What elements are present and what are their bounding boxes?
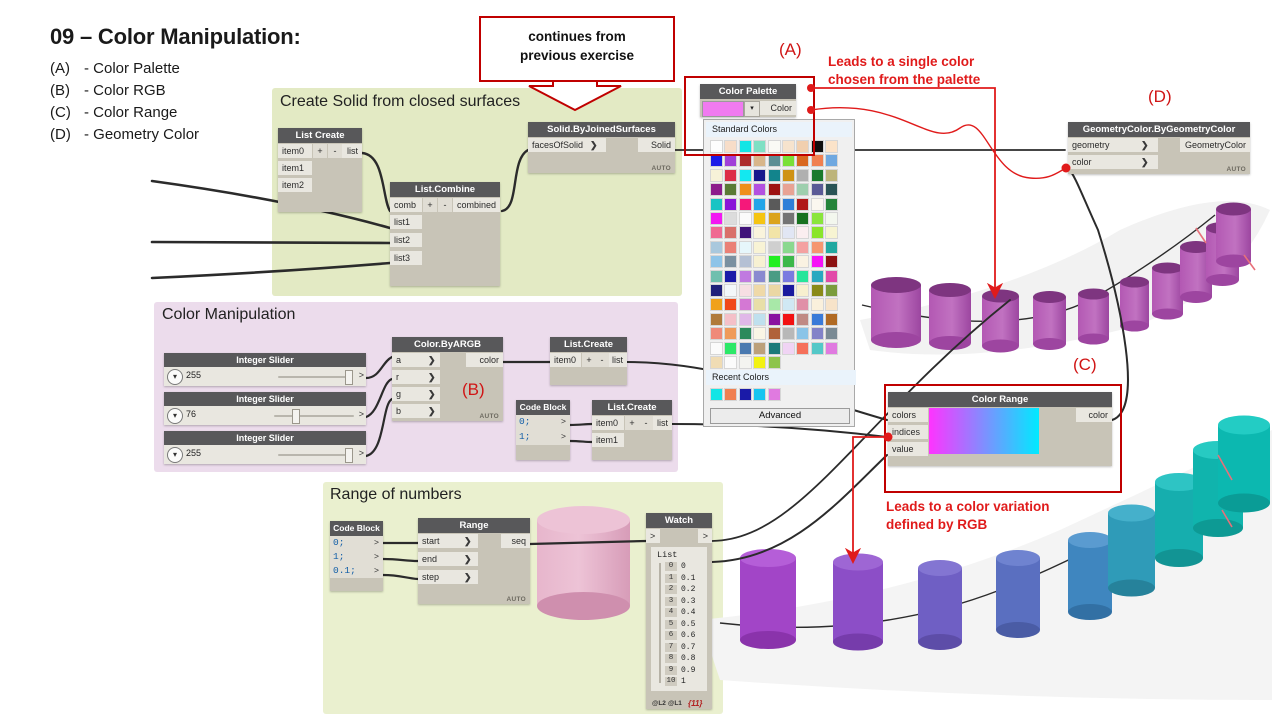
slider-title: Integer Slider xyxy=(164,353,366,367)
color-swatch[interactable] xyxy=(811,154,824,167)
list-item: (C)- Color Range xyxy=(50,104,199,121)
node-range[interactable]: Range start ❯ end ❯ step ❯ seq AUTO xyxy=(418,518,530,604)
color-swatch[interactable] xyxy=(739,270,752,283)
color-swatch[interactable] xyxy=(796,183,809,196)
port-color-out[interactable]: color xyxy=(466,353,503,367)
annotation-c-text: Leads to a color variation defined by RG… xyxy=(886,498,1050,534)
color-swatch[interactable] xyxy=(811,212,824,225)
integer-slider-2[interactable]: Integer Slider ▾ 76 > xyxy=(164,392,366,425)
color-swatch[interactable] xyxy=(739,356,752,369)
color-swatch[interactable] xyxy=(825,183,838,196)
label-a: (A) xyxy=(779,40,802,60)
node-title: Code Block xyxy=(516,400,570,415)
color-swatch[interactable] xyxy=(753,342,766,355)
highlight-box-c xyxy=(884,384,1122,493)
slider-row[interactable]: ▾ 255 > xyxy=(164,445,366,464)
chevron-down-icon[interactable]: ▾ xyxy=(167,369,183,385)
color-swatch[interactable] xyxy=(753,327,766,340)
watch-row-index: 5 xyxy=(665,620,677,629)
color-swatch[interactable] xyxy=(768,212,781,225)
watch-result-list[interactable]: List 0010.120.230.340.450.560.670.780.89… xyxy=(651,547,707,691)
color-swatch[interactable] xyxy=(796,198,809,211)
chevron-down-icon[interactable]: ▾ xyxy=(167,408,183,424)
node-list-create-1[interactable]: List Create item0 + - list item1 item2 xyxy=(278,128,362,212)
node-code-block-range[interactable]: Code Block 0; > 1; > 0.1; > xyxy=(330,521,383,591)
color-swatch[interactable] xyxy=(739,169,752,182)
chevron-right-icon: ❯ xyxy=(464,570,472,584)
recent-color-swatch[interactable] xyxy=(753,388,766,401)
node-title: Range xyxy=(418,518,530,533)
color-swatch[interactable] xyxy=(796,313,809,326)
color-swatch[interactable] xyxy=(811,241,824,254)
color-swatch[interactable] xyxy=(768,154,781,167)
port-list2[interactable]: list2 xyxy=(390,233,422,247)
port-item0[interactable]: item0 xyxy=(592,416,624,430)
color-swatch[interactable] xyxy=(724,313,737,326)
color-swatch[interactable] xyxy=(782,212,795,225)
color-swatch[interactable] xyxy=(710,154,723,167)
color-swatch[interactable] xyxy=(724,342,737,355)
node-title: List.Create xyxy=(592,400,672,415)
color-swatch[interactable] xyxy=(724,183,737,196)
code-line-1: 1; xyxy=(333,551,344,562)
slider-expand-icon[interactable]: > xyxy=(359,448,364,458)
color-swatch[interactable] xyxy=(782,226,795,239)
watch-row-value: 0.9 xyxy=(681,665,695,677)
watch-row-index: 4 xyxy=(665,608,677,617)
standard-colors-grid[interactable] xyxy=(710,140,846,370)
color-swatch[interactable] xyxy=(782,342,795,355)
code-line-0: 0; xyxy=(519,416,530,427)
node-list-combine[interactable]: List.Combine comb + - combined list1 lis… xyxy=(390,182,500,286)
watch-row: 50.5 xyxy=(651,619,707,631)
color-swatch[interactable] xyxy=(710,169,723,182)
color-swatch[interactable] xyxy=(739,284,752,297)
color-swatch[interactable] xyxy=(724,327,737,340)
color-swatch[interactable] xyxy=(768,284,781,297)
color-swatch[interactable] xyxy=(739,226,752,239)
chevron-right-icon: ❯ xyxy=(590,138,598,152)
callout-line1: continues from xyxy=(481,18,673,46)
color-swatch[interactable] xyxy=(710,241,723,254)
highlight-box-a xyxy=(684,76,815,156)
recent-colors-grid[interactable] xyxy=(710,388,846,404)
color-swatch[interactable] xyxy=(811,298,824,311)
color-swatch[interactable] xyxy=(710,284,723,297)
node-geometrycolor-bygeometrycolor[interactable]: GeometryColor.ByGeometryColor geometry ❯… xyxy=(1068,122,1250,174)
color-swatch[interactable] xyxy=(724,255,737,268)
color-swatch[interactable] xyxy=(782,154,795,167)
slider-value: 76 xyxy=(186,409,196,419)
color-swatch[interactable] xyxy=(724,212,737,225)
color-swatch[interactable] xyxy=(724,284,737,297)
node-watch[interactable]: Watch > > List 0010.120.230.340.450.560.… xyxy=(646,513,712,709)
color-swatch[interactable] xyxy=(724,241,737,254)
color-swatch[interactable] xyxy=(710,298,723,311)
watch-row-index: 6 xyxy=(665,631,677,640)
bullet-text-b: - Color RGB xyxy=(84,82,166,99)
color-swatch[interactable] xyxy=(825,169,838,182)
color-swatch[interactable] xyxy=(710,270,723,283)
color-swatch[interactable] xyxy=(811,226,824,239)
color-swatch[interactable] xyxy=(825,154,838,167)
port-item2[interactable]: item2 xyxy=(278,178,312,192)
chevron-right-icon: ❯ xyxy=(428,370,436,384)
code-port-2[interactable]: > xyxy=(374,565,379,575)
watch-row-index: 0 xyxy=(665,562,677,571)
recent-color-swatch[interactable] xyxy=(768,388,781,401)
recent-color-swatch[interactable] xyxy=(724,388,737,401)
color-swatch[interactable] xyxy=(811,255,824,268)
callout-line2: previous exercise xyxy=(481,46,673,65)
color-swatch[interactable] xyxy=(782,284,795,297)
port-item0[interactable]: item0 xyxy=(550,353,581,367)
color-swatch[interactable] xyxy=(710,183,723,196)
group-color-manipulation-title: Color Manipulation xyxy=(162,306,295,324)
annotation-c-line1: Leads to a color variation xyxy=(886,498,1050,516)
color-swatch[interactable] xyxy=(739,255,752,268)
code-line-2: 0.1; xyxy=(333,565,356,576)
callout-continues: continues from previous exercise xyxy=(479,16,675,82)
color-swatch[interactable] xyxy=(825,313,838,326)
watch-row-index: 3 xyxy=(665,597,677,606)
add-port-button[interactable]: + xyxy=(582,353,596,367)
color-swatch[interactable] xyxy=(796,169,809,182)
color-swatch[interactable] xyxy=(825,284,838,297)
color-swatch[interactable] xyxy=(782,270,795,283)
integer-slider-1[interactable]: Integer Slider ▾ 255 > xyxy=(164,353,366,386)
advanced-button[interactable]: Advanced xyxy=(710,408,850,424)
port-list-out[interactable]: list xyxy=(342,144,362,158)
bullet-text-c: - Color Range xyxy=(84,104,177,121)
port-item1[interactable]: item1 xyxy=(278,161,312,175)
node-list-create-3[interactable]: List.Create item0 + - list item1 xyxy=(592,400,672,460)
color-swatch[interactable] xyxy=(796,327,809,340)
color-swatch[interactable] xyxy=(796,241,809,254)
color-swatch[interactable] xyxy=(739,198,752,211)
color-palette-flyout[interactable]: Standard Colors Recent Colors Advanced xyxy=(703,119,855,427)
color-swatch[interactable] xyxy=(811,327,824,340)
color-swatch[interactable] xyxy=(768,342,781,355)
color-swatch[interactable] xyxy=(753,284,766,297)
color-swatch[interactable] xyxy=(796,298,809,311)
watch-row: 40.4 xyxy=(651,607,707,619)
color-swatch[interactable] xyxy=(753,270,766,283)
recent-color-swatch[interactable] xyxy=(739,388,752,401)
watch-row: 20.2 xyxy=(651,584,707,596)
slider-row[interactable]: ▾ 76 > xyxy=(164,406,366,425)
watch-footer-l1: @L1 xyxy=(668,700,682,707)
port-list3[interactable]: list3 xyxy=(390,251,422,265)
color-swatch[interactable] xyxy=(753,169,766,182)
color-swatch[interactable] xyxy=(768,226,781,239)
code-port-1[interactable]: > xyxy=(374,551,379,561)
color-swatch[interactable] xyxy=(796,154,809,167)
chevron-right-icon: ❯ xyxy=(464,552,472,566)
color-swatch[interactable] xyxy=(768,255,781,268)
color-swatch[interactable] xyxy=(782,183,795,196)
annotation-c-line2: defined by RGB xyxy=(886,516,1050,534)
slider-expand-icon[interactable]: > xyxy=(359,370,364,380)
remove-port-button[interactable]: - xyxy=(328,144,342,158)
chevron-right-icon: ❯ xyxy=(1141,138,1149,152)
port-watch-out[interactable]: > xyxy=(698,529,712,543)
color-swatch[interactable] xyxy=(753,198,766,211)
color-swatch[interactable] xyxy=(811,198,824,211)
auto-badge: AUTO xyxy=(480,413,500,420)
chevron-right-icon: ❯ xyxy=(1141,155,1149,169)
watch-row-value: 0.8 xyxy=(681,653,695,665)
color-swatch[interactable] xyxy=(782,169,795,182)
color-swatch[interactable] xyxy=(739,241,752,254)
watch-row: 60.6 xyxy=(651,630,707,642)
page-title: 09 – Color Manipulation: xyxy=(50,24,301,50)
annotation-a-line1: Leads to a single color xyxy=(828,53,980,71)
annotation-a-line2: chosen from the palette xyxy=(828,71,980,89)
port-watch-in[interactable]: > xyxy=(646,529,660,543)
slider-expand-icon[interactable]: > xyxy=(359,409,364,419)
node-code-block-rgb[interactable]: Code Block 0; > 1; > xyxy=(516,400,570,460)
slider-title: Integer Slider xyxy=(164,431,366,445)
color-swatch[interactable] xyxy=(710,327,723,340)
color-swatch[interactable] xyxy=(724,198,737,211)
code-port-1[interactable]: > xyxy=(561,431,566,441)
watch-row-value: 0.2 xyxy=(681,584,695,596)
remove-port-button[interactable]: - xyxy=(438,198,452,212)
color-swatch[interactable] xyxy=(796,284,809,297)
color-swatch[interactable] xyxy=(768,169,781,182)
color-swatch[interactable] xyxy=(768,327,781,340)
slider-value: 255 xyxy=(186,448,201,458)
port-list-out[interactable]: list xyxy=(609,353,627,367)
color-swatch[interactable] xyxy=(825,270,838,283)
remove-port-button[interactable]: - xyxy=(595,353,609,367)
color-swatch[interactable] xyxy=(753,212,766,225)
color-swatch[interactable] xyxy=(796,270,809,283)
cylinder-row-top xyxy=(871,203,1255,353)
color-swatch[interactable] xyxy=(768,298,781,311)
port-solid-out[interactable]: Solid xyxy=(638,138,675,152)
add-port-button[interactable]: + xyxy=(423,198,437,212)
bullet-list: (A)- Color Palette (B)- Color RGB (C)- C… xyxy=(50,60,199,143)
watch-row-value: 0.5 xyxy=(681,619,695,631)
color-swatch[interactable] xyxy=(796,226,809,239)
color-swatch[interactable] xyxy=(782,198,795,211)
port-list1[interactable]: list1 xyxy=(390,215,422,229)
list-item: (A)- Color Palette xyxy=(50,60,199,77)
slider-value: 255 xyxy=(186,370,201,380)
color-swatch[interactable] xyxy=(710,342,723,355)
watch-row: 80.8 xyxy=(651,653,707,665)
watch-footer-l2: @L2 xyxy=(652,700,666,707)
color-swatch[interactable] xyxy=(811,183,824,196)
port-geometrycolor-out[interactable]: GeometryColor xyxy=(1180,138,1250,152)
node-title: Watch xyxy=(646,513,712,528)
port-list-out[interactable]: list xyxy=(653,416,672,430)
color-swatch[interactable] xyxy=(825,255,838,268)
watch-row-value: 0.1 xyxy=(681,573,695,585)
color-swatch[interactable] xyxy=(796,212,809,225)
label-d: (D) xyxy=(1148,87,1172,107)
color-swatch[interactable] xyxy=(796,255,809,268)
watch-row-value: 0.4 xyxy=(681,607,695,619)
color-swatch[interactable] xyxy=(739,154,752,167)
code-port-0[interactable]: > xyxy=(561,416,566,426)
color-swatch[interactable] xyxy=(811,270,824,283)
watch-row: 30.3 xyxy=(651,596,707,608)
color-swatch[interactable] xyxy=(753,241,766,254)
color-swatch[interactable] xyxy=(768,356,781,369)
node-solid-byjoinedsurfaces[interactable]: Solid.ByJoinedSurfaces facesOfSolid ❯ So… xyxy=(528,122,675,173)
color-swatch[interactable] xyxy=(825,298,838,311)
watch-row: 70.7 xyxy=(651,642,707,654)
label-b: (B) xyxy=(462,380,485,400)
watch-row-index: 8 xyxy=(665,654,677,663)
color-swatch[interactable] xyxy=(768,313,781,326)
color-swatch[interactable] xyxy=(753,356,766,369)
color-swatch[interactable] xyxy=(782,255,795,268)
slider-row[interactable]: ▾ 255 > xyxy=(164,367,366,386)
color-swatch[interactable] xyxy=(796,342,809,355)
node-list-create-2[interactable]: List.Create item0 + - list xyxy=(550,337,627,385)
slide-canvas: 09 – Color Manipulation: (A)- Color Pale… xyxy=(0,0,1280,720)
watch-row-value: 0.7 xyxy=(681,642,695,654)
code-port-0[interactable]: > xyxy=(374,537,379,547)
port-combined-out[interactable]: combined xyxy=(453,198,500,212)
chevron-down-icon[interactable]: ▾ xyxy=(167,447,183,463)
list-item: (B)- Color RGB xyxy=(50,82,199,99)
color-swatch[interactable] xyxy=(811,284,824,297)
port-seq-out[interactable]: seq xyxy=(501,534,530,548)
color-swatch[interactable] xyxy=(739,298,752,311)
bullet-tag-c: (C) xyxy=(50,104,84,121)
color-swatch[interactable] xyxy=(768,198,781,211)
color-swatch[interactable] xyxy=(724,270,737,283)
color-swatch[interactable] xyxy=(753,183,766,196)
shadow-blob-top xyxy=(860,201,1270,354)
color-swatch[interactable] xyxy=(768,183,781,196)
node-title: List Create xyxy=(278,128,362,143)
color-swatch[interactable] xyxy=(825,198,838,211)
remove-port-button[interactable]: - xyxy=(639,416,653,430)
color-swatch[interactable] xyxy=(811,342,824,355)
color-swatch[interactable] xyxy=(782,298,795,311)
color-swatch[interactable] xyxy=(825,241,838,254)
color-swatch[interactable] xyxy=(825,212,838,225)
color-swatch[interactable] xyxy=(753,298,766,311)
curve-top-row xyxy=(862,215,1215,321)
color-swatch[interactable] xyxy=(739,327,752,340)
color-swatch[interactable] xyxy=(768,270,781,283)
color-swatch[interactable] xyxy=(739,183,752,196)
node-title: Solid.ByJoinedSurfaces xyxy=(528,122,675,137)
watch-row: 90.9 xyxy=(651,665,707,677)
color-swatch[interactable] xyxy=(724,169,737,182)
bullet-tag-d: (D) xyxy=(50,126,84,143)
color-swatch[interactable] xyxy=(724,226,737,239)
chevron-right-icon: ❯ xyxy=(464,534,472,548)
watch-count-badge: {11} xyxy=(688,699,703,708)
group-create-solid-title: Create Solid from closed surfaces xyxy=(280,93,520,111)
annotation-a-text: Leads to a single color chosen from the … xyxy=(828,53,980,89)
color-swatch[interactable] xyxy=(710,198,723,211)
label-c: (C) xyxy=(1073,355,1097,375)
slider-title: Integer Slider xyxy=(164,392,366,406)
color-swatch[interactable] xyxy=(811,169,824,182)
color-swatch[interactable] xyxy=(739,212,752,225)
color-swatch[interactable] xyxy=(724,298,737,311)
auto-badge: AUTO xyxy=(507,596,527,603)
node-title: GeometryColor.ByGeometryColor xyxy=(1068,122,1250,137)
node-color-byargb[interactable]: Color.ByARGB a ❯ r ❯ g ❯ b ❯ color AUTO xyxy=(392,337,503,421)
color-swatch[interactable] xyxy=(825,342,838,355)
group-range-of-numbers-title: Range of numbers xyxy=(330,486,462,504)
color-swatch[interactable] xyxy=(739,313,752,326)
color-swatch[interactable] xyxy=(739,342,752,355)
color-swatch[interactable] xyxy=(825,140,838,153)
port-item1[interactable]: item1 xyxy=(592,433,624,447)
color-swatch[interactable] xyxy=(753,313,766,326)
chevron-right-icon: ❯ xyxy=(428,353,436,367)
watch-row-value: 0.6 xyxy=(681,630,695,642)
color-swatch[interactable] xyxy=(753,255,766,268)
watch-rows: 0010.120.230.340.450.560.670.780.890.910… xyxy=(651,561,707,688)
color-swatch[interactable] xyxy=(811,313,824,326)
node-title: Code Block xyxy=(330,521,383,536)
color-swatch[interactable] xyxy=(724,154,737,167)
color-swatch[interactable] xyxy=(753,226,766,239)
code-line-0: 0; xyxy=(333,537,344,548)
color-swatch[interactable] xyxy=(710,212,723,225)
integer-slider-3[interactable]: Integer Slider ▾ 255 > xyxy=(164,431,366,464)
watch-row-index: 1 xyxy=(665,574,677,583)
watch-row-index: 7 xyxy=(665,643,677,652)
color-swatch[interactable] xyxy=(710,356,723,369)
color-swatch[interactable] xyxy=(782,327,795,340)
recent-color-swatch[interactable] xyxy=(710,388,723,401)
color-swatch[interactable] xyxy=(710,313,723,326)
watch-row: 10.1 xyxy=(651,573,707,585)
color-swatch[interactable] xyxy=(782,313,795,326)
watch-row-value: 0.3 xyxy=(681,596,695,608)
color-swatch[interactable] xyxy=(753,154,766,167)
port-comb[interactable]: comb xyxy=(390,198,422,212)
color-swatch[interactable] xyxy=(825,327,838,340)
auto-badge: AUTO xyxy=(1227,166,1247,173)
port-item0[interactable]: item0 xyxy=(278,144,312,158)
color-swatch[interactable] xyxy=(825,226,838,239)
color-swatch[interactable] xyxy=(710,255,723,268)
auto-badge: AUTO xyxy=(652,165,672,172)
color-swatch[interactable] xyxy=(724,356,737,369)
add-port-button[interactable]: + xyxy=(313,144,327,158)
watch-row: 101 xyxy=(651,676,707,688)
watch-row-index: 9 xyxy=(665,666,677,675)
node-title: Color.ByARGB xyxy=(392,337,503,352)
color-swatch[interactable] xyxy=(710,226,723,239)
color-swatch[interactable] xyxy=(768,241,781,254)
bullet-tag-a: (A) xyxy=(50,60,84,77)
bullet-text-a: - Color Palette xyxy=(84,60,180,77)
bullet-tag-b: (B) xyxy=(50,82,84,99)
color-swatch[interactable] xyxy=(782,241,795,254)
watch-list-label: List xyxy=(651,547,707,560)
watch-row-value: 1 xyxy=(681,676,686,688)
watch-row: 00 xyxy=(651,561,707,573)
watch-row-index: 2 xyxy=(665,585,677,594)
add-port-button[interactable]: + xyxy=(625,416,639,430)
chevron-right-icon: ❯ xyxy=(428,387,436,401)
